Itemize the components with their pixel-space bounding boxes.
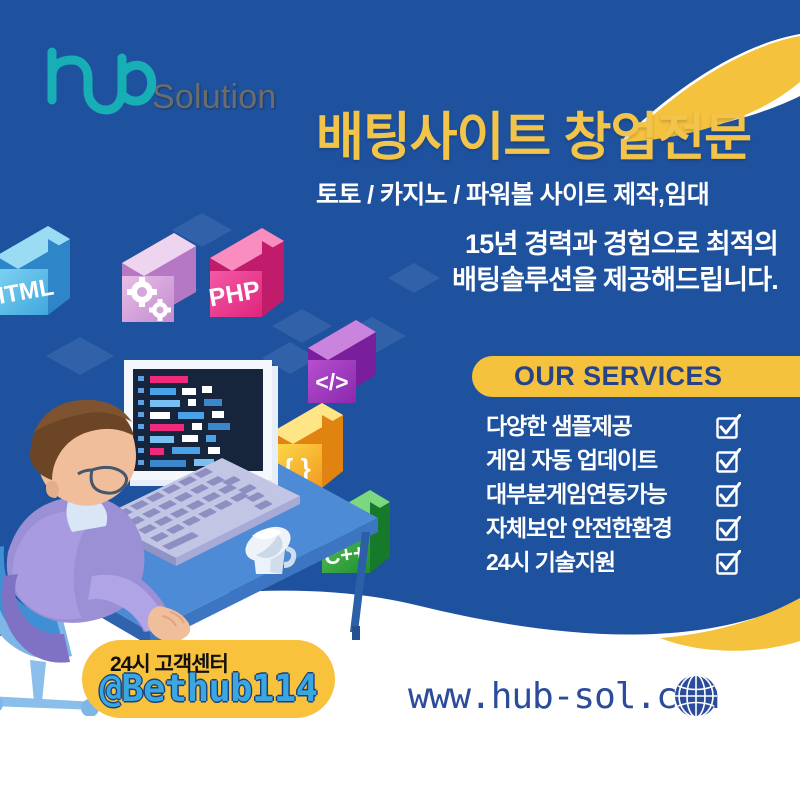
svg-text:</>: </> [315,369,348,395]
html-badge: HTML [0,226,70,315]
service-label: 게임 자동 업데이트 [486,449,657,472]
our-services-banner: OUR SERVICES [472,356,800,397]
headline-block: 배팅사이트 창업전문 토토 / 카지노 / 파워볼 사이트 제작,임대 15년 … [316,110,784,299]
checkbox-icon [715,482,741,508]
list-item: 자체보안 안전한환경 [486,513,741,544]
list-item: 게임 자동 업데이트 [486,445,741,476]
promo-poster: Solution [0,0,800,800]
service-label: 24시 기술지원 [486,551,615,574]
list-item: 24시 기술지원 [486,547,741,578]
php-badge: PHP [207,228,284,317]
logo-wordmark: Solution [152,80,276,114]
headline-subtitle: 토토 / 카지노 / 파워볼 사이트 제작,임대 [316,180,784,210]
contact-handle[interactable]: @Bethub114 [96,670,321,707]
gears-badge [122,233,196,322]
list-item: 다양한 샘플제공 [486,411,741,442]
hub-logomark-icon [42,44,158,120]
service-label: 자체보안 안전한환경 [486,517,672,540]
brand-logo: Solution [42,44,276,120]
checkbox-icon [715,516,741,542]
services-list: 다양한 샘플제공 게임 자동 업데이트 대부분게임연동가능 자체보안 안전한환경… [486,411,741,581]
list-item: 대부분게임연동가능 [486,479,741,510]
contact-pill[interactable]: 24시 고객센터 @Bethub114 [82,640,335,718]
pitch-line-1: 15년 경력과 경험으로 최적의 [316,226,778,262]
code-tag-badge: </> [308,320,376,403]
globe-icon [672,672,720,720]
checkbox-icon [715,550,741,576]
headline-pitch: 15년 경력과 경험으로 최적의 배팅솔루션을 제공해드립니다. [316,226,784,298]
service-label: 다양한 샘플제공 [486,415,632,438]
page-title: 배팅사이트 창업전문 [316,110,784,166]
checkbox-icon [715,414,741,440]
checkbox-icon [715,448,741,474]
our-services-heading: OUR SERVICES [472,361,722,392]
service-label: 대부분게임연동가능 [486,483,667,506]
pitch-line-2: 배팅솔루션을 제공해드립니다. [316,262,778,298]
